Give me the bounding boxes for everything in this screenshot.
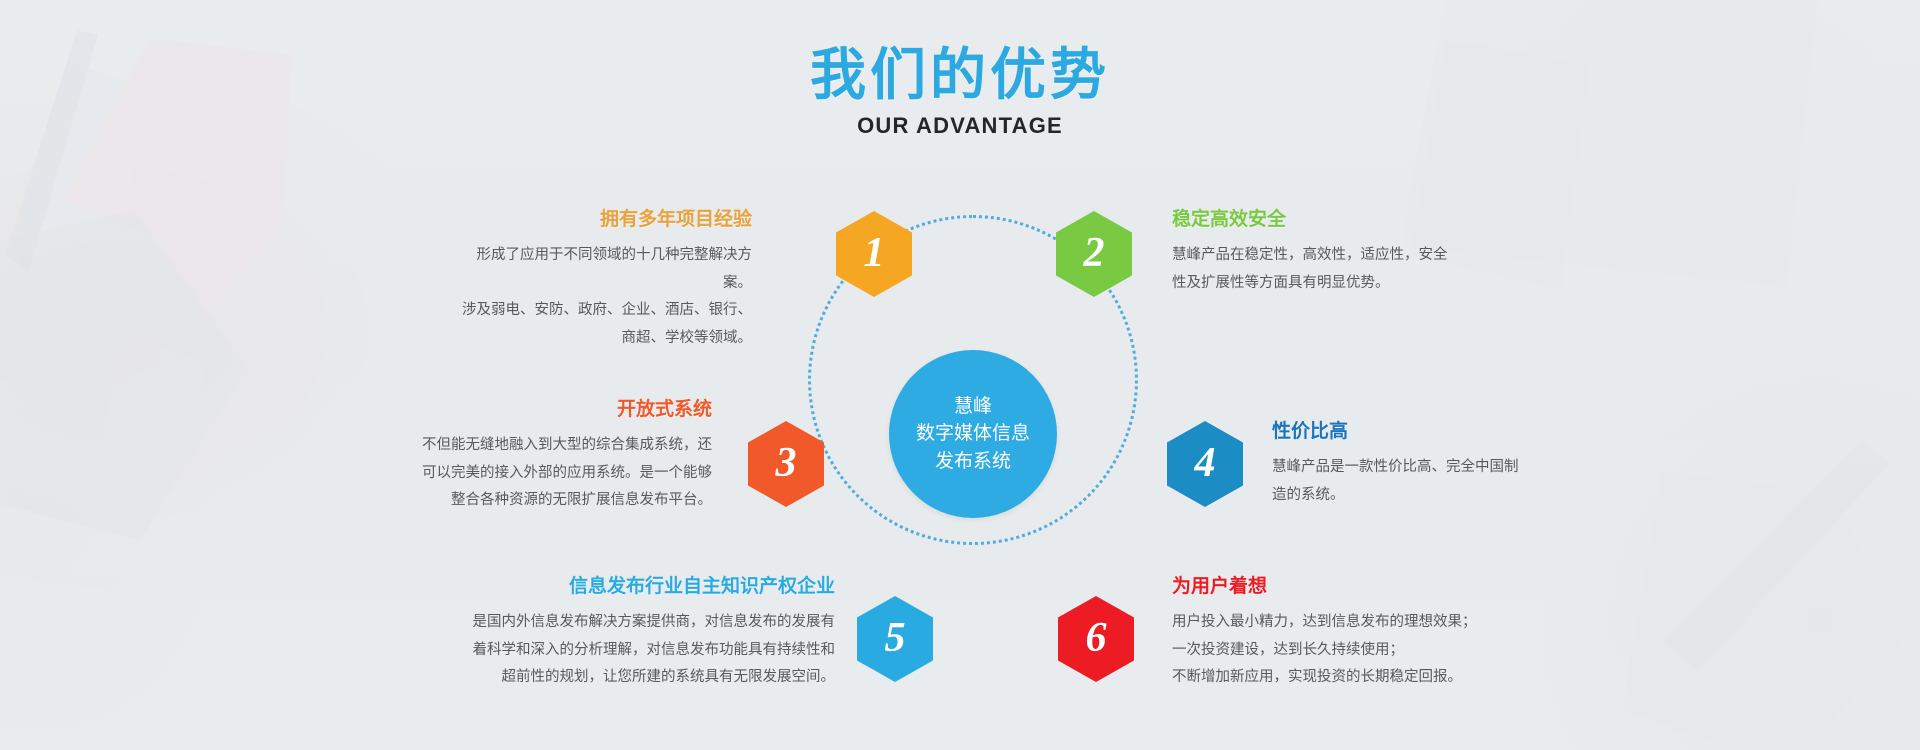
advantage-body-4: 慧峰产品是一款性价比高、完全中国制 造的系统。: [1272, 454, 1572, 510]
center-line-3: 发布系统: [935, 448, 1011, 476]
hex-badge-6[interactable]: 6: [1058, 596, 1134, 682]
advantage-block-2: 稳定高效安全 慧峰产品在稳定性，高效性，适应性，安全 性及扩展性等方面具有明显优…: [1172, 208, 1482, 297]
advantage-title-6: 为用户着想: [1172, 575, 1502, 600]
center-circle: 慧峰 数字媒体信息 发布系统: [889, 350, 1057, 518]
hex-badge-4[interactable]: 4: [1167, 421, 1243, 507]
advantage-infographic: 我们的优势 OUR ADVANTAGE 慧峰 数字媒体信息 发布系统 1 2 3…: [0, 0, 1920, 750]
advantage-block-5: 信息发布行业自主知识产权企业 是国内外信息发布解决方案提供商，对信息发布的发展有…: [400, 575, 835, 692]
advantage-body-3: 不但能无缝地融入到大型的综合集成系统，还 可以完美的接入外部的应用系统。是一个能…: [392, 432, 712, 515]
advantage-block-4: 性价比高 慧峰产品是一款性价比高、完全中国制 造的系统。: [1272, 420, 1572, 509]
page-header: 我们的优势 OUR ADVANTAGE: [0, 44, 1920, 139]
advantage-title-4: 性价比高: [1272, 420, 1572, 445]
advantage-body-5: 是国内外信息发布解决方案提供商，对信息发布的发展有 着科学和深入的分析理解，对信…: [400, 609, 835, 692]
hex-badge-1-number: 1: [864, 229, 885, 277]
advantage-block-1: 拥有多年项目经验 形成了应用于不同领域的十几种完整解决方案。 涉及弱电、安防、政…: [462, 208, 752, 353]
hex-badge-3-number: 3: [776, 439, 797, 487]
advantage-body-2: 慧峰产品在稳定性，高效性，适应性，安全 性及扩展性等方面具有明显优势。: [1172, 242, 1482, 298]
hex-badge-4-number: 4: [1195, 439, 1216, 487]
advantage-title-3: 开放式系统: [392, 398, 712, 423]
hex-badge-3[interactable]: 3: [748, 421, 824, 507]
center-line-2: 数字媒体信息: [916, 420, 1030, 448]
page-title-cn: 我们的优势: [0, 44, 1920, 107]
page-title-en: OUR ADVANTAGE: [0, 113, 1920, 139]
advantage-block-6: 为用户着想 用户投入最小精力，达到信息发布的理想效果； 一次投资建设，达到长久持…: [1172, 575, 1502, 692]
hex-badge-6-number: 6: [1086, 614, 1107, 662]
advantage-body-1: 形成了应用于不同领域的十几种完整解决方案。 涉及弱电、安防、政府、企业、酒店、银…: [462, 242, 752, 353]
advantage-title-2: 稳定高效安全: [1172, 208, 1482, 233]
advantage-title-5: 信息发布行业自主知识产权企业: [400, 575, 835, 600]
hex-badge-5[interactable]: 5: [857, 596, 933, 682]
advantage-title-1: 拥有多年项目经验: [462, 208, 752, 233]
hex-badge-2-number: 2: [1084, 229, 1105, 277]
advantage-block-3: 开放式系统 不但能无缝地融入到大型的综合集成系统，还 可以完美的接入外部的应用系…: [392, 398, 712, 515]
advantage-body-6: 用户投入最小精力，达到信息发布的理想效果； 一次投资建设，达到长久持续使用； 不…: [1172, 609, 1502, 692]
hex-badge-5-number: 5: [885, 614, 906, 662]
center-line-1: 慧峰: [954, 393, 992, 421]
